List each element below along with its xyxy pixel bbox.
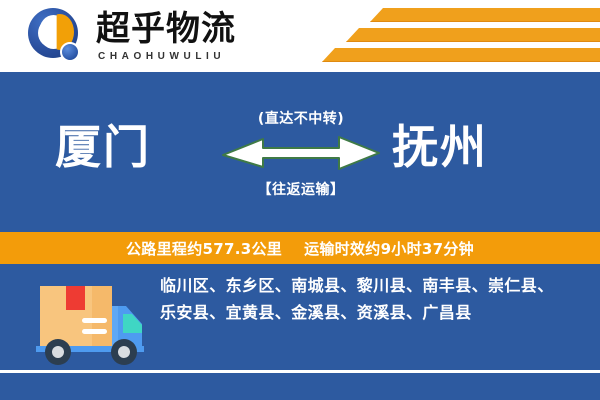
delivery-truck-icon: [22, 276, 154, 368]
stripe-2: [346, 28, 600, 42]
destination-city: 抚州: [392, 124, 488, 170]
brand-logo[interactable]: 超乎物流 CHAOHUWULIU: [26, 6, 236, 68]
orange-speed-stripes-icon: [310, 8, 600, 66]
logistics-route-banner: 超乎物流 CHAOHUWULIU 厦门 (直达不中转) 【往返运输】 抚州 公路…: [0, 0, 600, 400]
route-info-bar: 公路里程约577.3公里 运输时效约9小时37分钟: [0, 232, 600, 264]
brand-name-en: CHAOHUWULIU: [98, 51, 236, 62]
double-headed-arrow-icon: [221, 133, 381, 173]
coverage-line: 临川区、东乡区、南城县、黎川县、南丰县、崇仁县、: [160, 272, 590, 299]
route-note-direct: (直达不中转): [218, 108, 384, 128]
distance-text: 公路里程约577.3公里: [126, 238, 282, 259]
circle-crescent-logo-icon: [26, 6, 88, 68]
header-bar: 超乎物流 CHAOHUWULIU: [0, 0, 600, 72]
brand-wordmark: 超乎物流 CHAOHUWULIU: [96, 12, 236, 62]
route-arrow-group: (直达不中转) 【往返运输】: [218, 108, 384, 218]
road-line: [0, 370, 600, 373]
coverage-line: 乐安县、宜黄县、金溪县、资溪县、广昌县: [160, 299, 590, 326]
route-section: 厦门 (直达不中转) 【往返运输】 抚州: [0, 72, 600, 230]
stripe-1: [370, 8, 600, 22]
stripe-3: [322, 48, 600, 62]
route-note-roundtrip: 【往返运输】: [218, 179, 384, 199]
brand-name-cn: 超乎物流: [96, 12, 236, 48]
coverage-area-list: 临川区、东乡区、南城县、黎川县、南丰县、崇仁县、 乐安县、宜黄县、金溪县、资溪县…: [160, 272, 590, 326]
origin-city: 厦门: [55, 124, 151, 170]
duration-text: 运输时效约9小时37分钟: [304, 238, 474, 259]
